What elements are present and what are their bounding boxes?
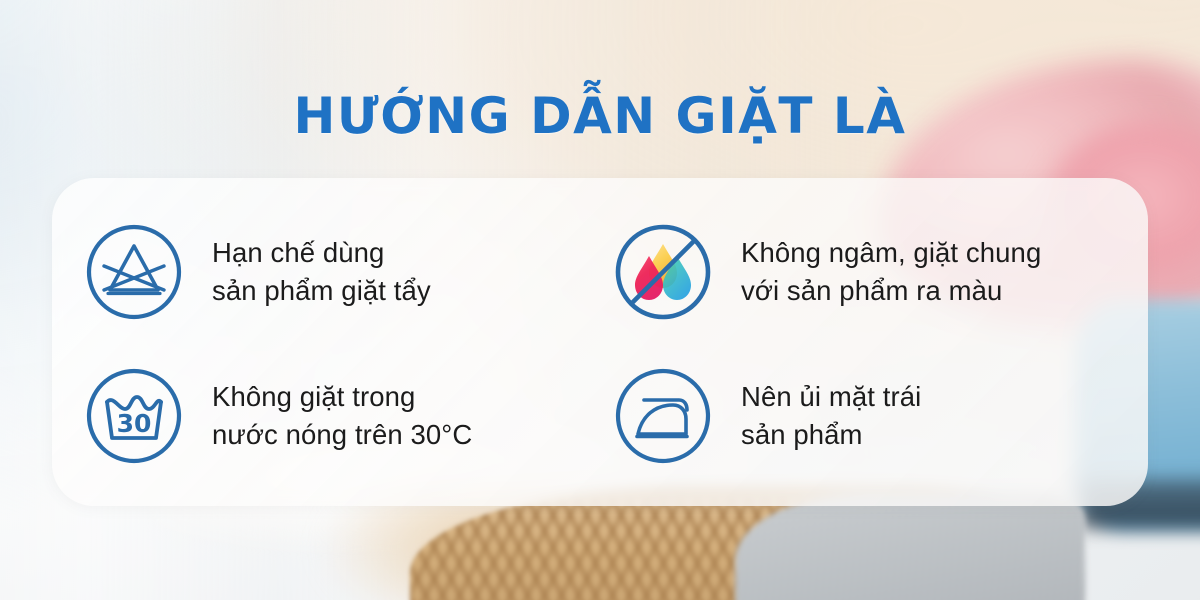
care-item-max-wash-temperature: 30 Không giặt trong nước nóng trên 30°C bbox=[78, 344, 599, 488]
iron-icon bbox=[611, 364, 715, 468]
no-bleach-triangle-icon bbox=[82, 220, 186, 324]
care-item-label: Không giặt trong nước nóng trên 30°C bbox=[212, 378, 472, 454]
care-item-no-soak-no-mixed-colors: Không ngâm, giặt chung với sản phẩm ra m… bbox=[599, 200, 1120, 344]
no-color-bleeding-droplets-icon bbox=[611, 220, 715, 324]
care-item-label: Không ngâm, giặt chung với sản phẩm ra m… bbox=[741, 234, 1041, 310]
care-item-do-not-bleach: Hạn chế dùng sản phẩm giặt tẩy bbox=[78, 200, 599, 344]
page-title: HƯỚNG DẪN GIẶT LÀ bbox=[0, 88, 1200, 144]
care-item-label: Nên ủi mặt trái sản phẩm bbox=[741, 378, 921, 454]
care-item-label: Hạn chế dùng sản phẩm giặt tẩy bbox=[212, 234, 431, 310]
wash-tub-30-icon: 30 bbox=[82, 364, 186, 468]
care-instructions-card: Hạn chế dùng sản phẩm giặt tẩy bbox=[52, 178, 1148, 506]
infographic-canvas: HƯỚNG DẪN GIẶT LÀ Hạn chế dùng sản phẩm … bbox=[0, 0, 1200, 600]
care-item-iron-inside-out: Nên ủi mặt trái sản phẩm bbox=[599, 344, 1120, 488]
wash-temperature-value: 30 bbox=[117, 409, 152, 438]
care-instructions-grid: Hạn chế dùng sản phẩm giặt tẩy bbox=[52, 178, 1148, 506]
